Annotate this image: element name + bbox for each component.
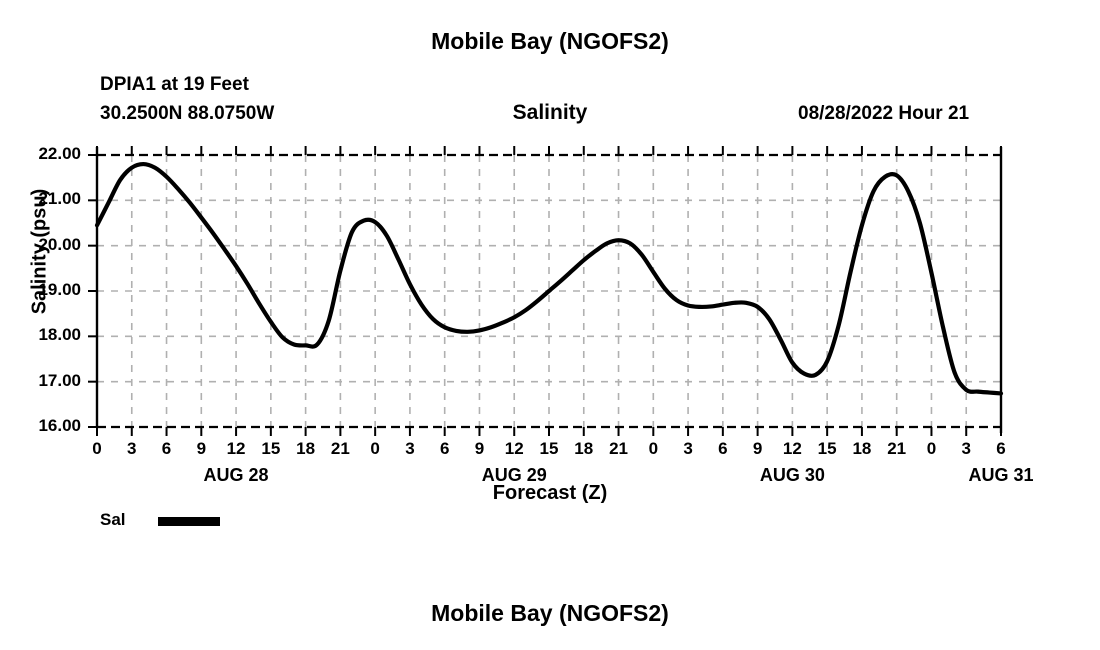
legend-line-swatch	[158, 517, 220, 526]
page-title-bottom: Mobile Bay (NGOFS2)	[0, 600, 1100, 627]
x-tick-label: 6	[986, 439, 1016, 459]
x-tick-label: 3	[117, 439, 147, 459]
x-tick-label: 0	[638, 439, 668, 459]
y-tick-label: 21.00	[7, 189, 81, 209]
x-tick-label: 18	[847, 439, 877, 459]
x-tick-label: 18	[569, 439, 599, 459]
x-tick-label: 0	[360, 439, 390, 459]
x-tick-label: 12	[221, 439, 251, 459]
legend-series-label: Sal	[100, 510, 126, 530]
x-tick-label: 15	[534, 439, 564, 459]
x-tick-label: 9	[743, 439, 773, 459]
x-axis-day-label: AUG 28	[166, 465, 306, 486]
x-tick-label: 6	[708, 439, 738, 459]
x-tick-label: 12	[777, 439, 807, 459]
y-tick-label: 16.00	[7, 416, 81, 436]
y-tick-label: 18.00	[7, 325, 81, 345]
x-tick-label: 18	[291, 439, 321, 459]
y-tick-label: 22.00	[7, 144, 81, 164]
x-tick-label: 3	[951, 439, 981, 459]
x-tick-label: 6	[430, 439, 460, 459]
x-tick-label: 12	[499, 439, 529, 459]
x-tick-label: 3	[395, 439, 425, 459]
x-tick-label: 0	[916, 439, 946, 459]
x-tick-label: 6	[152, 439, 182, 459]
y-tick-label: 20.00	[7, 235, 81, 255]
x-axis-day-label: AUG 29	[444, 465, 584, 486]
x-tick-label: 15	[256, 439, 286, 459]
x-tick-label: 0	[82, 439, 112, 459]
y-tick-label: 17.00	[7, 371, 81, 391]
y-tick-label: 19.00	[7, 280, 81, 300]
x-tick-label: 15	[812, 439, 842, 459]
x-tick-label: 9	[186, 439, 216, 459]
x-tick-label: 9	[464, 439, 494, 459]
x-axis-day-label: AUG 31	[931, 465, 1071, 486]
x-tick-label: 21	[604, 439, 634, 459]
chart-canvas: Mobile Bay (NGOFS2) DPIA1 at 19 Feet 30.…	[0, 0, 1100, 650]
x-axis-day-label: AUG 30	[722, 465, 862, 486]
x-tick-label: 21	[882, 439, 912, 459]
x-tick-label: 21	[325, 439, 355, 459]
plot-area	[0, 0, 1100, 650]
x-tick-label: 3	[673, 439, 703, 459]
